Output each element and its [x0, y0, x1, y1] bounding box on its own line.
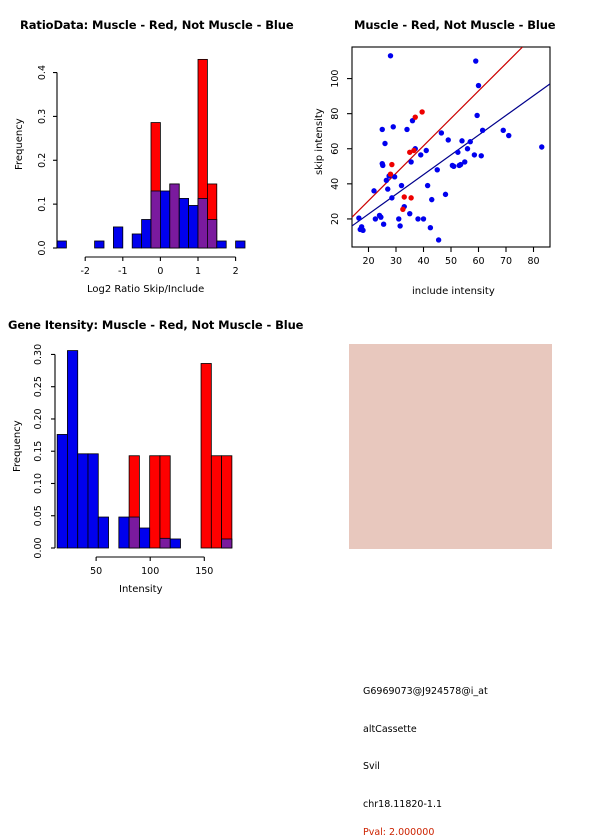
histogram-bar-not-muscle [151, 191, 160, 248]
ratio-histogram-plot: 0.00.10.20.30.4-2-1012 [0, 0, 300, 300]
ratio-ytick-label: 0.4 [37, 65, 48, 80]
scatter-point-not-muscle [373, 216, 378, 221]
ratio-xtick-label: 0 [157, 266, 163, 277]
histogram-bar-muscle [150, 456, 160, 548]
scatter-point-muscle [411, 148, 416, 153]
scatter-point-not-muscle [404, 127, 409, 132]
histogram-bar-muscle [201, 363, 211, 548]
ratio-ytick-label: 0.3 [37, 109, 48, 124]
ratio-ytick-label: 0.0 [37, 240, 48, 255]
scatter-ytick-label: 60 [330, 143, 341, 155]
muscle-fit-line [352, 47, 523, 217]
scatter-fit-lines [352, 47, 550, 226]
scatter-point-not-muscle [399, 183, 404, 188]
ratio-xtick-label: -1 [118, 266, 127, 277]
scatter-point-muscle [388, 171, 393, 176]
scatter-point-muscle [413, 114, 418, 119]
scatter-point-not-muscle [425, 183, 430, 188]
scatter-point-not-muscle [407, 211, 412, 216]
scatter-point-muscle [400, 207, 405, 212]
histogram-bar-not-muscle [78, 454, 88, 548]
gene-xtick-label: 50 [90, 566, 102, 577]
info-event-type: altCassette [363, 724, 417, 735]
histogram-bar-not-muscle [139, 528, 149, 548]
scatter-point-not-muscle [473, 58, 478, 63]
info-background [349, 344, 552, 549]
scatter-point-not-muscle [472, 152, 477, 157]
scatter-xlabel: include intensity [412, 286, 495, 297]
scatter-point-not-muscle [418, 152, 423, 157]
ratio-ytick-label: 0.1 [37, 197, 48, 212]
gene-intensity-ylabel: Frequency [12, 420, 23, 472]
scatter-point-muscle [402, 194, 407, 199]
histogram-bar-not-muscle [119, 517, 129, 548]
scatter-point-not-muscle [382, 141, 387, 146]
ratio-histogram-ylabel: Frequency [14, 118, 25, 170]
gene-ytick-label: 0.30 [33, 344, 44, 365]
histogram-bar-not-muscle [207, 219, 216, 248]
histogram-bar-not-muscle [170, 184, 179, 248]
scatter-ytick-label: 20 [330, 213, 341, 225]
ratio-ytick-label: 0.2 [37, 153, 48, 168]
histogram-bar-not-muscle [170, 539, 180, 548]
histogram-bar-not-muscle [189, 205, 198, 248]
info-probe-id: G6969073@J924578@i_at [363, 686, 488, 697]
ratio-histogram-xlabel: Log2 Ratio Skip/Include [87, 284, 204, 295]
scatter-point-not-muscle [436, 237, 441, 242]
not-muscle-fit-line [352, 84, 550, 226]
scatter-point-not-muscle [415, 216, 420, 221]
scatter-point-not-muscle [443, 192, 448, 197]
scatter-point-not-muscle [479, 153, 484, 158]
scatter-point-not-muscle [474, 113, 479, 118]
histogram-bar-not-muscle [160, 538, 170, 548]
histogram-bar-not-muscle [198, 198, 207, 248]
scatter-point-not-muscle [356, 215, 361, 220]
gene-ytick-label: 0.00 [33, 537, 44, 558]
scatter-point-not-muscle [360, 228, 365, 233]
plot-canvas: RatioData: Muscle - Red, Not Muscle - Bl… [0, 0, 600, 600]
scatter-point-not-muscle [397, 223, 402, 228]
panel-intensity-scatter: Muscle - Red, Not Muscle - Blue 20406080… [300, 0, 600, 300]
scatter-xtick-label: 70 [500, 256, 512, 267]
histogram-bar-not-muscle [95, 241, 104, 248]
info-gene-symbol: Svil [363, 761, 380, 772]
panel-info: G6969073@J924578@i_at altCassette Svil c… [300, 300, 600, 600]
scatter-point-not-muscle [459, 138, 464, 143]
scatter-point-not-muscle [480, 128, 485, 133]
intensity-scatter-plot: 2040608010020304050607080 [300, 0, 600, 300]
histogram-bar-muscle [211, 456, 221, 548]
ratio-xtick-label: -2 [80, 266, 89, 277]
histogram-bar-not-muscle [57, 241, 66, 248]
gene-ytick-label: 0.05 [33, 505, 44, 526]
gene-intensity-xlabel: Intensity [119, 584, 163, 595]
panel-ratio-histogram: RatioData: Muscle - Red, Not Muscle - Bl… [0, 0, 300, 300]
scatter-point-not-muscle [501, 128, 506, 133]
histogram-bar-muscle [160, 456, 170, 548]
scatter-point-not-muscle [421, 216, 426, 221]
scatter-ylabel: skip intensity [314, 108, 325, 175]
scatter-point-not-muscle [539, 144, 544, 149]
scatter-xtick-label: 20 [362, 256, 374, 267]
histogram-bar-not-muscle [222, 539, 232, 548]
scatter-point-muscle [408, 195, 413, 200]
scatter-xtick-label: 40 [417, 256, 429, 267]
scatter-point-not-muscle [476, 83, 481, 88]
ratio-bars-group [57, 59, 245, 248]
scatter-point-not-muscle [455, 150, 460, 155]
gene-xtick-label: 150 [195, 566, 213, 577]
gene-ytick-label: 0.20 [33, 408, 44, 429]
scatter-xtick-label: 50 [445, 256, 457, 267]
info-locus: chr18.11820-1.1 [363, 799, 442, 810]
scatter-point-not-muscle [468, 139, 473, 144]
scatter-xtick-label: 30 [390, 256, 402, 267]
scatter-point-not-muscle [429, 197, 434, 202]
scatter-point-not-muscle [439, 130, 444, 135]
histogram-bar-muscle [222, 456, 232, 548]
scatter-ytick-label: 40 [330, 178, 341, 190]
scatter-point-not-muscle [396, 216, 401, 221]
scatter-point-not-muscle [408, 159, 413, 164]
histogram-bar-not-muscle [236, 241, 245, 248]
scatter-point-not-muscle [446, 137, 451, 142]
histogram-bar-not-muscle [67, 351, 77, 548]
info-pval: Pval: 2.000000 [363, 827, 434, 838]
scatter-ytick-label: 80 [330, 108, 341, 120]
scatter-point-not-muscle [371, 188, 376, 193]
histogram-bar-not-muscle [132, 234, 141, 248]
scatter-point-not-muscle [428, 225, 433, 230]
scatter-xtick-label: 80 [527, 256, 539, 267]
scatter-point-not-muscle [380, 163, 385, 168]
scatter-point-not-muscle [385, 186, 390, 191]
histogram-bar-not-muscle [179, 198, 188, 248]
histogram-bar-not-muscle [129, 517, 139, 548]
scatter-xtick-label: 60 [472, 256, 484, 267]
gene-bars-group [57, 351, 232, 548]
scatter-point-not-muscle [462, 159, 467, 164]
scatter-point-not-muscle [435, 167, 440, 172]
panel-gene-intensity-histogram: Gene Itensity: Muscle - Red, Not Muscle … [0, 300, 300, 600]
scatter-point-not-muscle [380, 127, 385, 132]
scatter-point-not-muscle [451, 164, 456, 169]
ratio-xtick-label: 1 [195, 266, 201, 277]
histogram-bar-not-muscle [142, 219, 151, 248]
scatter-point-not-muscle [465, 146, 470, 151]
scatter-point-not-muscle [506, 133, 511, 138]
histogram-bar-not-muscle [98, 517, 108, 548]
scatter-point-not-muscle [378, 214, 383, 219]
histogram-bar-not-muscle [113, 227, 122, 248]
scatter-point-muscle [419, 109, 424, 114]
histogram-bar-not-muscle [160, 191, 169, 248]
histogram-bar-not-muscle [217, 241, 226, 248]
gene-intensity-plot: 0.000.050.100.150.200.250.3050100150 [0, 300, 300, 600]
scatter-point-not-muscle [424, 148, 429, 153]
scatter-point-muscle [389, 162, 394, 167]
gene-ytick-label: 0.15 [33, 441, 44, 462]
gene-ytick-label: 0.10 [33, 473, 44, 494]
scatter-point-not-muscle [391, 124, 396, 129]
scatter-point-not-muscle [381, 221, 386, 226]
scatter-point-not-muscle [389, 195, 394, 200]
ratio-xtick-label: 2 [233, 266, 239, 277]
gene-xtick-label: 100 [141, 566, 159, 577]
histogram-bar-not-muscle [57, 434, 67, 548]
scatter-points-group [356, 53, 544, 243]
histogram-bar-not-muscle [88, 454, 98, 548]
scatter-point-not-muscle [388, 53, 393, 58]
gene-ytick-label: 0.25 [33, 376, 44, 397]
scatter-ytick-label: 100 [330, 70, 341, 88]
